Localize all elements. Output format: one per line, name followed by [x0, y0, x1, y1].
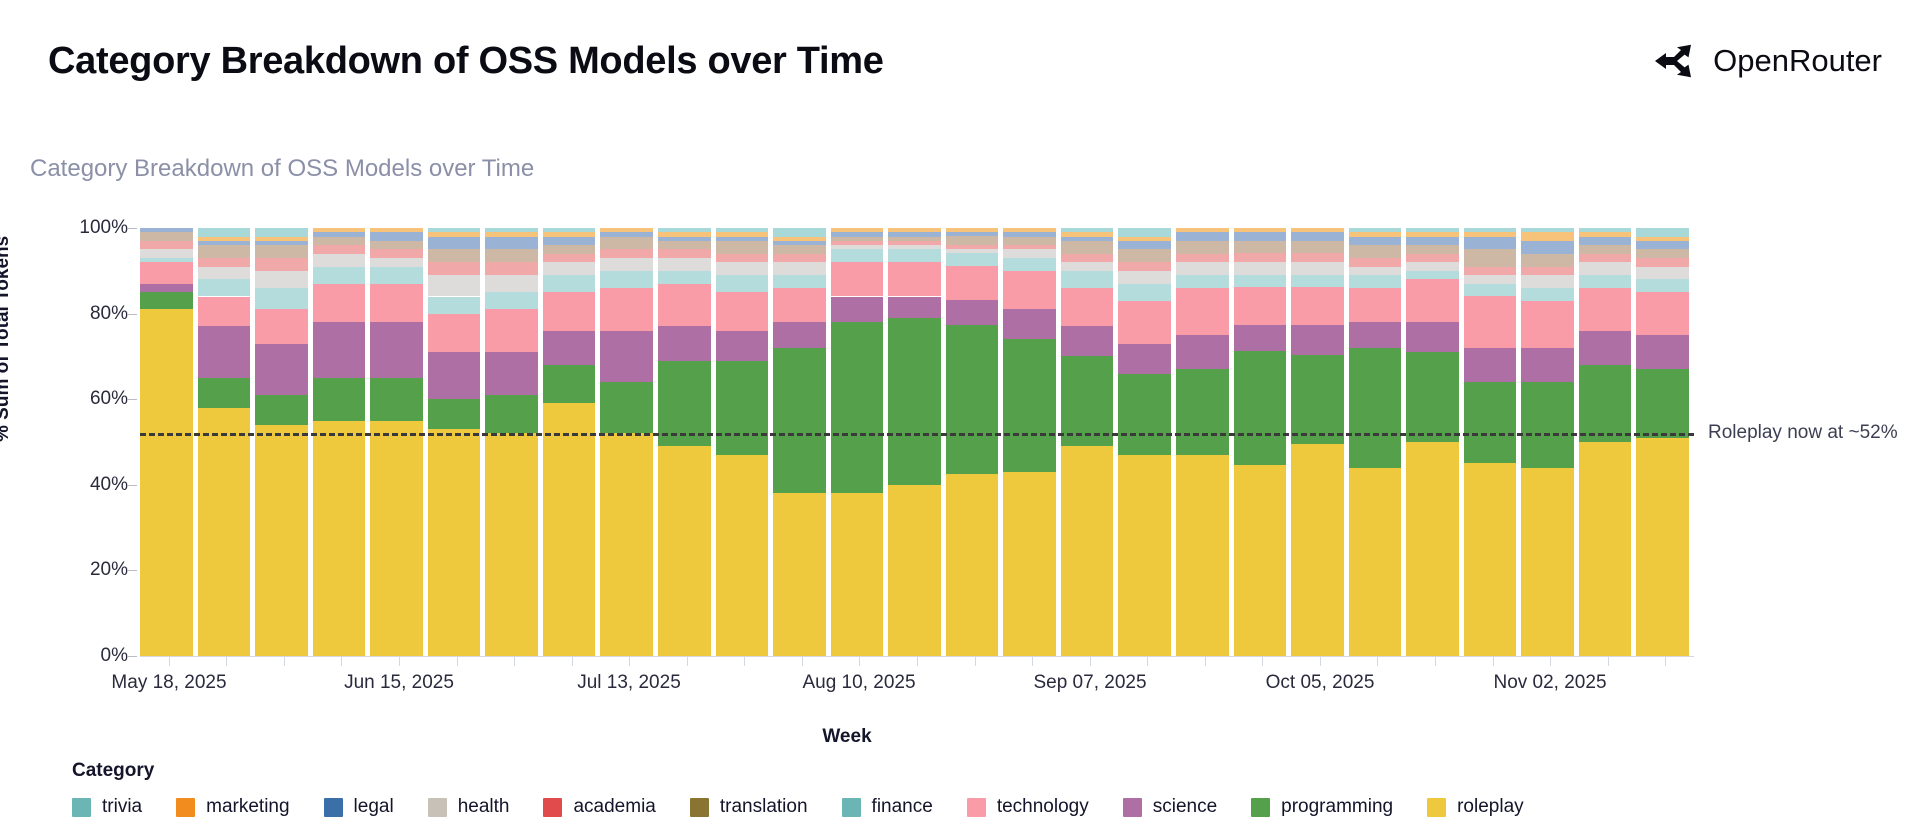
- bar-column[interactable]: [255, 228, 308, 656]
- bar-segment-science[interactable]: [888, 297, 941, 318]
- bar-segment-legal[interactable]: [1636, 241, 1689, 250]
- bar-segment-science[interactable]: [1406, 322, 1459, 352]
- bar-segment-health[interactable]: [140, 249, 193, 258]
- bar-segment-science[interactable]: [831, 297, 884, 323]
- bar-segment-technology[interactable]: [888, 262, 941, 296]
- bar-segment-science[interactable]: [543, 331, 596, 365]
- bar-segment-roleplay[interactable]: [1406, 442, 1459, 656]
- bar-segment-translation[interactable]: [773, 245, 826, 254]
- bar-segment-health[interactable]: [198, 267, 251, 280]
- bar-segment-trivia[interactable]: [773, 228, 826, 237]
- bar-segment-translation[interactable]: [313, 237, 366, 246]
- bar-segment-science[interactable]: [1579, 331, 1632, 365]
- bar-segment-technology[interactable]: [1176, 288, 1229, 335]
- bar-segment-trivia[interactable]: [1521, 228, 1574, 232]
- bar-column[interactable]: [1003, 228, 1056, 656]
- bar-segment-roleplay[interactable]: [1349, 468, 1402, 656]
- bar-segment-academia[interactable]: [485, 262, 538, 275]
- bar-segment-legal[interactable]: [255, 241, 308, 245]
- bar-segment-trivia[interactable]: [658, 228, 711, 232]
- bar-segment-trivia[interactable]: [1349, 228, 1402, 232]
- bar-segment-science[interactable]: [1176, 335, 1229, 369]
- bar-segment-academia[interactable]: [1464, 267, 1517, 276]
- bar-segment-trivia[interactable]: [543, 228, 596, 232]
- bar-segment-marketing[interactable]: [428, 232, 481, 236]
- bar-segment-legal[interactable]: [831, 232, 884, 236]
- bar-segment-technology[interactable]: [600, 288, 653, 331]
- bar-segment-finance[interactable]: [716, 275, 769, 292]
- legend-item-marketing[interactable]: marketing: [176, 796, 289, 818]
- bar-segment-health[interactable]: [888, 245, 941, 249]
- bar-segment-programming[interactable]: [1521, 382, 1574, 468]
- bar-segment-programming[interactable]: [1234, 351, 1287, 465]
- bar-segment-health[interactable]: [1636, 267, 1689, 280]
- bar-segment-academia[interactable]: [140, 241, 193, 250]
- bar-segment-academia[interactable]: [543, 254, 596, 263]
- bar-segment-legal[interactable]: [1579, 237, 1632, 246]
- bar-segment-technology[interactable]: [1291, 287, 1344, 325]
- bar-segment-legal[interactable]: [140, 228, 193, 232]
- bar-column[interactable]: [543, 228, 596, 656]
- bar-segment-science[interactable]: [1464, 348, 1517, 382]
- bar-column[interactable]: [370, 228, 423, 656]
- legend-item-trivia[interactable]: trivia: [72, 796, 142, 818]
- bar-column[interactable]: [888, 228, 941, 656]
- bar-column[interactable]: [313, 228, 366, 656]
- bar-segment-marketing[interactable]: [255, 237, 308, 241]
- bar-segment-technology[interactable]: [831, 262, 884, 296]
- bar-segment-marketing[interactable]: [1291, 228, 1344, 232]
- bar-segment-roleplay[interactable]: [543, 403, 596, 656]
- legend-item-legal[interactable]: legal: [324, 796, 394, 818]
- bar-segment-academia[interactable]: [716, 254, 769, 263]
- bar-segment-finance[interactable]: [1176, 275, 1229, 288]
- bar-segment-academia[interactable]: [1406, 254, 1459, 263]
- bar-segment-health[interactable]: [658, 258, 711, 271]
- bar-segment-legal[interactable]: [1291, 232, 1344, 240]
- bar-segment-science[interactable]: [370, 322, 423, 378]
- bar-segment-finance[interactable]: [831, 249, 884, 262]
- bar-segment-science[interactable]: [485, 352, 538, 395]
- bar-segment-roleplay[interactable]: [773, 493, 826, 656]
- bar-segment-translation[interactable]: [1521, 254, 1574, 267]
- bar-segment-translation[interactable]: [716, 241, 769, 254]
- bar-segment-academia[interactable]: [313, 245, 366, 254]
- bar-segment-finance[interactable]: [1636, 279, 1689, 292]
- bar-column[interactable]: [140, 228, 193, 656]
- bar-segment-translation[interactable]: [946, 236, 999, 244]
- bar-segment-health[interactable]: [543, 262, 596, 275]
- bar-segment-marketing[interactable]: [313, 228, 366, 232]
- bar-segment-science[interactable]: [255, 344, 308, 395]
- bar-segment-legal[interactable]: [485, 237, 538, 250]
- bar-segment-technology[interactable]: [1579, 288, 1632, 331]
- legend-item-technology[interactable]: technology: [967, 796, 1089, 818]
- bar-segment-legal[interactable]: [773, 241, 826, 245]
- bar-segment-finance[interactable]: [255, 288, 308, 309]
- bar-segment-technology[interactable]: [658, 284, 711, 327]
- bar-segment-programming[interactable]: [716, 361, 769, 455]
- bar-column[interactable]: [1636, 228, 1689, 656]
- bar-segment-translation[interactable]: [1349, 245, 1402, 258]
- bar-segment-programming[interactable]: [1579, 365, 1632, 442]
- bar-segment-marketing[interactable]: [888, 228, 941, 232]
- bar-segment-finance[interactable]: [1406, 271, 1459, 280]
- bar-segment-marketing[interactable]: [716, 232, 769, 236]
- bar-column[interactable]: [1349, 228, 1402, 656]
- bar-column[interactable]: [600, 228, 653, 656]
- bar-segment-finance[interactable]: [773, 275, 826, 288]
- bar-segment-roleplay[interactable]: [485, 433, 538, 656]
- bar-segment-legal[interactable]: [888, 232, 941, 236]
- bar-segment-translation[interactable]: [1118, 249, 1171, 262]
- bar-column[interactable]: [658, 228, 711, 656]
- bar-segment-science[interactable]: [773, 322, 826, 348]
- bar-segment-finance[interactable]: [313, 267, 366, 284]
- bar-segment-trivia[interactable]: [1464, 228, 1517, 232]
- bar-segment-health[interactable]: [1118, 271, 1171, 284]
- bar-segment-health[interactable]: [370, 258, 423, 267]
- bar-segment-science[interactable]: [658, 326, 711, 360]
- bar-segment-legal[interactable]: [1521, 241, 1574, 254]
- bar-segment-health[interactable]: [1003, 249, 1056, 258]
- bar-segment-science[interactable]: [198, 326, 251, 377]
- bar-segment-health[interactable]: [1521, 275, 1574, 288]
- bar-segment-legal[interactable]: [1176, 232, 1229, 241]
- bar-segment-roleplay[interactable]: [428, 429, 481, 656]
- bar-segment-science[interactable]: [140, 284, 193, 293]
- bar-segment-programming[interactable]: [773, 348, 826, 494]
- bar-segment-marketing[interactable]: [485, 232, 538, 236]
- bar-segment-translation[interactable]: [1579, 245, 1632, 254]
- bar-segment-trivia[interactable]: [1406, 228, 1459, 232]
- bar-segment-roleplay[interactable]: [1579, 442, 1632, 656]
- bar-segment-science[interactable]: [1003, 309, 1056, 339]
- bar-segment-technology[interactable]: [1234, 287, 1287, 325]
- bar-segment-programming[interactable]: [428, 399, 481, 429]
- bar-column[interactable]: [773, 228, 826, 656]
- bar-segment-roleplay[interactable]: [1521, 468, 1574, 656]
- bar-segment-roleplay[interactable]: [1234, 465, 1287, 656]
- bar-segment-health[interactable]: [1464, 275, 1517, 284]
- bar-column[interactable]: [716, 228, 769, 656]
- bar-segment-science[interactable]: [428, 352, 481, 399]
- bar-segment-translation[interactable]: [1291, 241, 1344, 254]
- bar-segment-health[interactable]: [1176, 262, 1229, 275]
- bar-segment-roleplay[interactable]: [1176, 455, 1229, 656]
- bar-column[interactable]: [1464, 228, 1517, 656]
- bar-segment-translation[interactable]: [1061, 241, 1114, 254]
- bar-segment-roleplay[interactable]: [1061, 446, 1114, 656]
- bar-segment-legal[interactable]: [1118, 241, 1171, 250]
- bar-column[interactable]: [428, 228, 481, 656]
- bar-segment-translation[interactable]: [1003, 237, 1056, 246]
- bar-segment-legal[interactable]: [1003, 232, 1056, 236]
- bar-segment-roleplay[interactable]: [1291, 444, 1344, 656]
- bar-segment-technology[interactable]: [773, 288, 826, 322]
- bar-segment-health[interactable]: [1579, 262, 1632, 275]
- bar-segment-health[interactable]: [255, 271, 308, 288]
- bar-segment-translation[interactable]: [543, 245, 596, 254]
- bar-segment-technology[interactable]: [946, 266, 999, 300]
- bar-segment-trivia[interactable]: [1061, 228, 1114, 232]
- bar-segment-finance[interactable]: [140, 258, 193, 262]
- bar-segment-translation[interactable]: [198, 245, 251, 258]
- bar-segment-translation[interactable]: [1464, 249, 1517, 266]
- bar-segment-trivia[interactable]: [428, 228, 481, 232]
- bar-segment-technology[interactable]: [1406, 279, 1459, 322]
- bar-segment-health[interactable]: [1061, 262, 1114, 271]
- bar-segment-science[interactable]: [716, 331, 769, 361]
- bar-segment-legal[interactable]: [1406, 237, 1459, 246]
- bar-segment-roleplay[interactable]: [255, 425, 308, 656]
- bar-segment-trivia[interactable]: [198, 228, 251, 237]
- bar-segment-technology[interactable]: [485, 309, 538, 352]
- bar-segment-programming[interactable]: [1118, 374, 1171, 455]
- bar-segment-roleplay[interactable]: [946, 474, 999, 656]
- bar-segment-programming[interactable]: [1636, 369, 1689, 437]
- bar-segment-roleplay[interactable]: [831, 493, 884, 656]
- bar-segment-marketing[interactable]: [1521, 232, 1574, 241]
- bar-segment-trivia[interactable]: [1118, 228, 1171, 237]
- bar-segment-technology[interactable]: [313, 284, 366, 323]
- bar-segment-trivia[interactable]: [716, 228, 769, 232]
- bar-segment-finance[interactable]: [1579, 275, 1632, 288]
- bar-segment-health[interactable]: [428, 275, 481, 296]
- bar-segment-academia[interactable]: [1061, 254, 1114, 263]
- bar-column[interactable]: [1061, 228, 1114, 656]
- bar-segment-science[interactable]: [1521, 348, 1574, 382]
- bar-segment-academia[interactable]: [1118, 262, 1171, 271]
- bar-segment-marketing[interactable]: [946, 228, 999, 232]
- bar-segment-programming[interactable]: [255, 395, 308, 425]
- bar-segment-programming[interactable]: [600, 382, 653, 433]
- bar-segment-health[interactable]: [1406, 262, 1459, 271]
- bar-segment-health[interactable]: [1234, 262, 1287, 275]
- bar-segment-marketing[interactable]: [1406, 232, 1459, 236]
- bar-segment-trivia[interactable]: [255, 228, 308, 237]
- bar-segment-programming[interactable]: [140, 292, 193, 309]
- bar-segment-marketing[interactable]: [1234, 228, 1287, 232]
- bar-segment-finance[interactable]: [1349, 275, 1402, 288]
- bar-column[interactable]: [1521, 228, 1574, 656]
- bar-segment-programming[interactable]: [1406, 352, 1459, 442]
- bar-segment-programming[interactable]: [1349, 348, 1402, 468]
- bar-segment-technology[interactable]: [1003, 271, 1056, 310]
- bar-segment-science[interactable]: [1349, 322, 1402, 348]
- bar-segment-science[interactable]: [600, 331, 653, 382]
- legend-item-translation[interactable]: translation: [690, 796, 808, 818]
- bar-segment-roleplay[interactable]: [716, 455, 769, 656]
- bar-segment-legal[interactable]: [716, 237, 769, 241]
- bar-segment-finance[interactable]: [600, 271, 653, 288]
- bar-column[interactable]: [1579, 228, 1632, 656]
- bar-segment-technology[interactable]: [1061, 288, 1114, 327]
- bar-segment-programming[interactable]: [831, 322, 884, 493]
- bar-segment-translation[interactable]: [888, 237, 941, 241]
- bar-segment-finance[interactable]: [1291, 275, 1344, 288]
- bar-segment-academia[interactable]: [1003, 245, 1056, 249]
- bar-column[interactable]: [485, 228, 538, 656]
- bar-column[interactable]: [1291, 228, 1344, 656]
- legend-item-programming[interactable]: programming: [1251, 796, 1393, 818]
- bar-column[interactable]: [1406, 228, 1459, 656]
- bar-segment-technology[interactable]: [198, 297, 251, 327]
- bar-segment-roleplay[interactable]: [888, 485, 941, 656]
- bar-segment-health[interactable]: [485, 275, 538, 292]
- bar-segment-trivia[interactable]: [1636, 228, 1689, 237]
- bar-segment-technology[interactable]: [1521, 301, 1574, 348]
- bar-segment-programming[interactable]: [485, 395, 538, 434]
- bar-segment-health[interactable]: [716, 262, 769, 275]
- bar-segment-academia[interactable]: [1349, 258, 1402, 267]
- bar-segment-academia[interactable]: [255, 258, 308, 271]
- bar-segment-marketing[interactable]: [543, 232, 596, 236]
- bar-segment-marketing[interactable]: [831, 228, 884, 232]
- bar-segment-translation[interactable]: [831, 237, 884, 241]
- bar-segment-marketing[interactable]: [1061, 232, 1114, 236]
- bar-segment-academia[interactable]: [888, 241, 941, 245]
- bar-segment-translation[interactable]: [428, 249, 481, 262]
- bar-column[interactable]: [946, 228, 999, 656]
- bar-segment-finance[interactable]: [1521, 288, 1574, 301]
- bar-segment-translation[interactable]: [1176, 241, 1229, 254]
- bar-segment-programming[interactable]: [946, 325, 999, 473]
- bar-segment-programming[interactable]: [313, 378, 366, 421]
- bar-segment-technology[interactable]: [1118, 301, 1171, 344]
- legend-item-science[interactable]: science: [1123, 796, 1217, 818]
- bar-segment-marketing[interactable]: [1118, 237, 1171, 241]
- bar-segment-programming[interactable]: [198, 378, 251, 408]
- bar-segment-academia[interactable]: [1234, 253, 1287, 261]
- bar-segment-finance[interactable]: [1061, 271, 1114, 288]
- bar-segment-marketing[interactable]: [1349, 232, 1402, 236]
- legend-item-academia[interactable]: academia: [543, 796, 655, 818]
- bar-segment-marketing[interactable]: [1579, 232, 1632, 236]
- bar-column[interactable]: [1118, 228, 1171, 656]
- bar-segment-finance[interactable]: [1464, 284, 1517, 297]
- bar-segment-technology[interactable]: [543, 292, 596, 331]
- bar-segment-academia[interactable]: [198, 258, 251, 267]
- bar-segment-legal[interactable]: [658, 237, 711, 241]
- bar-segment-science[interactable]: [1636, 335, 1689, 369]
- bar-segment-trivia[interactable]: [485, 228, 538, 232]
- bar-segment-health[interactable]: [946, 249, 999, 253]
- bar-segment-technology[interactable]: [428, 314, 481, 353]
- bar-segment-finance[interactable]: [370, 267, 423, 284]
- bar-segment-roleplay[interactable]: [1118, 455, 1171, 656]
- bar-segment-health[interactable]: [773, 262, 826, 275]
- bar-segment-legal[interactable]: [198, 241, 251, 245]
- bar-segment-marketing[interactable]: [1636, 237, 1689, 241]
- bar-segment-academia[interactable]: [1636, 258, 1689, 267]
- bar-column[interactable]: [1234, 228, 1287, 656]
- bar-segment-science[interactable]: [1291, 325, 1344, 355]
- bar-segment-marketing[interactable]: [1176, 228, 1229, 232]
- bar-segment-finance[interactable]: [485, 292, 538, 309]
- bar-segment-programming[interactable]: [1176, 369, 1229, 455]
- bar-segment-marketing[interactable]: [1464, 232, 1517, 236]
- legend-item-roleplay[interactable]: roleplay: [1427, 796, 1524, 818]
- bar-segment-translation[interactable]: [140, 232, 193, 241]
- bar-segment-health[interactable]: [831, 245, 884, 249]
- bar-segment-technology[interactable]: [1349, 288, 1402, 322]
- bar-segment-roleplay[interactable]: [1003, 472, 1056, 656]
- bar-segment-academia[interactable]: [1291, 253, 1344, 261]
- bar-segment-technology[interactable]: [255, 309, 308, 343]
- bar-segment-translation[interactable]: [1636, 249, 1689, 258]
- bar-segment-finance[interactable]: [1003, 258, 1056, 271]
- bar-segment-legal[interactable]: [1234, 232, 1287, 240]
- bar-segment-academia[interactable]: [831, 241, 884, 245]
- bar-segment-translation[interactable]: [255, 245, 308, 258]
- bar-segment-marketing[interactable]: [773, 237, 826, 241]
- bar-segment-technology[interactable]: [370, 284, 423, 323]
- bar-segment-finance[interactable]: [946, 253, 999, 266]
- bar-segment-science[interactable]: [1118, 344, 1171, 374]
- bar-segment-marketing[interactable]: [370, 228, 423, 232]
- bar-segment-academia[interactable]: [370, 249, 423, 258]
- bar-segment-academia[interactable]: [1521, 267, 1574, 276]
- bar-segment-roleplay[interactable]: [1636, 438, 1689, 656]
- bar-segment-academia[interactable]: [1579, 254, 1632, 263]
- bar-segment-programming[interactable]: [1003, 339, 1056, 472]
- bar-segment-roleplay[interactable]: [370, 421, 423, 656]
- bar-segment-technology[interactable]: [1636, 292, 1689, 335]
- bar-segment-trivia[interactable]: [1579, 228, 1632, 232]
- bar-segment-marketing[interactable]: [600, 228, 653, 232]
- bar-segment-academia[interactable]: [773, 254, 826, 263]
- bar-segment-translation[interactable]: [370, 241, 423, 250]
- bar-segment-programming[interactable]: [1291, 355, 1344, 444]
- bar-segment-technology[interactable]: [1464, 296, 1517, 347]
- bar-segment-academia[interactable]: [1176, 254, 1229, 263]
- bar-segment-translation[interactable]: [1406, 245, 1459, 254]
- bar-segment-legal[interactable]: [370, 232, 423, 241]
- bar-segment-roleplay[interactable]: [140, 309, 193, 656]
- bar-segment-health[interactable]: [1349, 267, 1402, 276]
- bar-segment-technology[interactable]: [140, 262, 193, 283]
- bar-segment-science[interactable]: [946, 300, 999, 325]
- bar-segment-finance[interactable]: [1118, 284, 1171, 301]
- bar-segment-roleplay[interactable]: [658, 446, 711, 656]
- bar-segment-academia[interactable]: [658, 249, 711, 258]
- bar-segment-finance[interactable]: [658, 271, 711, 284]
- bar-segment-legal[interactable]: [600, 232, 653, 236]
- bar-segment-legal[interactable]: [543, 237, 596, 246]
- bar-segment-finance[interactable]: [198, 279, 251, 296]
- bar-segment-health[interactable]: [600, 258, 653, 271]
- bar-segment-translation[interactable]: [600, 237, 653, 250]
- bar-segment-translation[interactable]: [485, 249, 538, 262]
- bar-segment-translation[interactable]: [1234, 241, 1287, 254]
- bar-segment-finance[interactable]: [543, 275, 596, 292]
- bar-segment-legal[interactable]: [946, 232, 999, 236]
- legend-item-finance[interactable]: finance: [842, 796, 933, 818]
- bar-segment-academia[interactable]: [428, 262, 481, 275]
- bar-segment-finance[interactable]: [428, 297, 481, 314]
- bar-segment-programming[interactable]: [1464, 382, 1517, 463]
- bar-segment-legal[interactable]: [1061, 237, 1114, 241]
- bar-segment-science[interactable]: [313, 322, 366, 378]
- bar-segment-science[interactable]: [1234, 325, 1287, 350]
- bar-segment-academia[interactable]: [600, 249, 653, 258]
- bar-segment-legal[interactable]: [1349, 237, 1402, 246]
- bar-segment-legal[interactable]: [1464, 237, 1517, 250]
- bar-segment-marketing[interactable]: [1003, 228, 1056, 232]
- bar-column[interactable]: [831, 228, 884, 656]
- bar-segment-legal[interactable]: [313, 232, 366, 236]
